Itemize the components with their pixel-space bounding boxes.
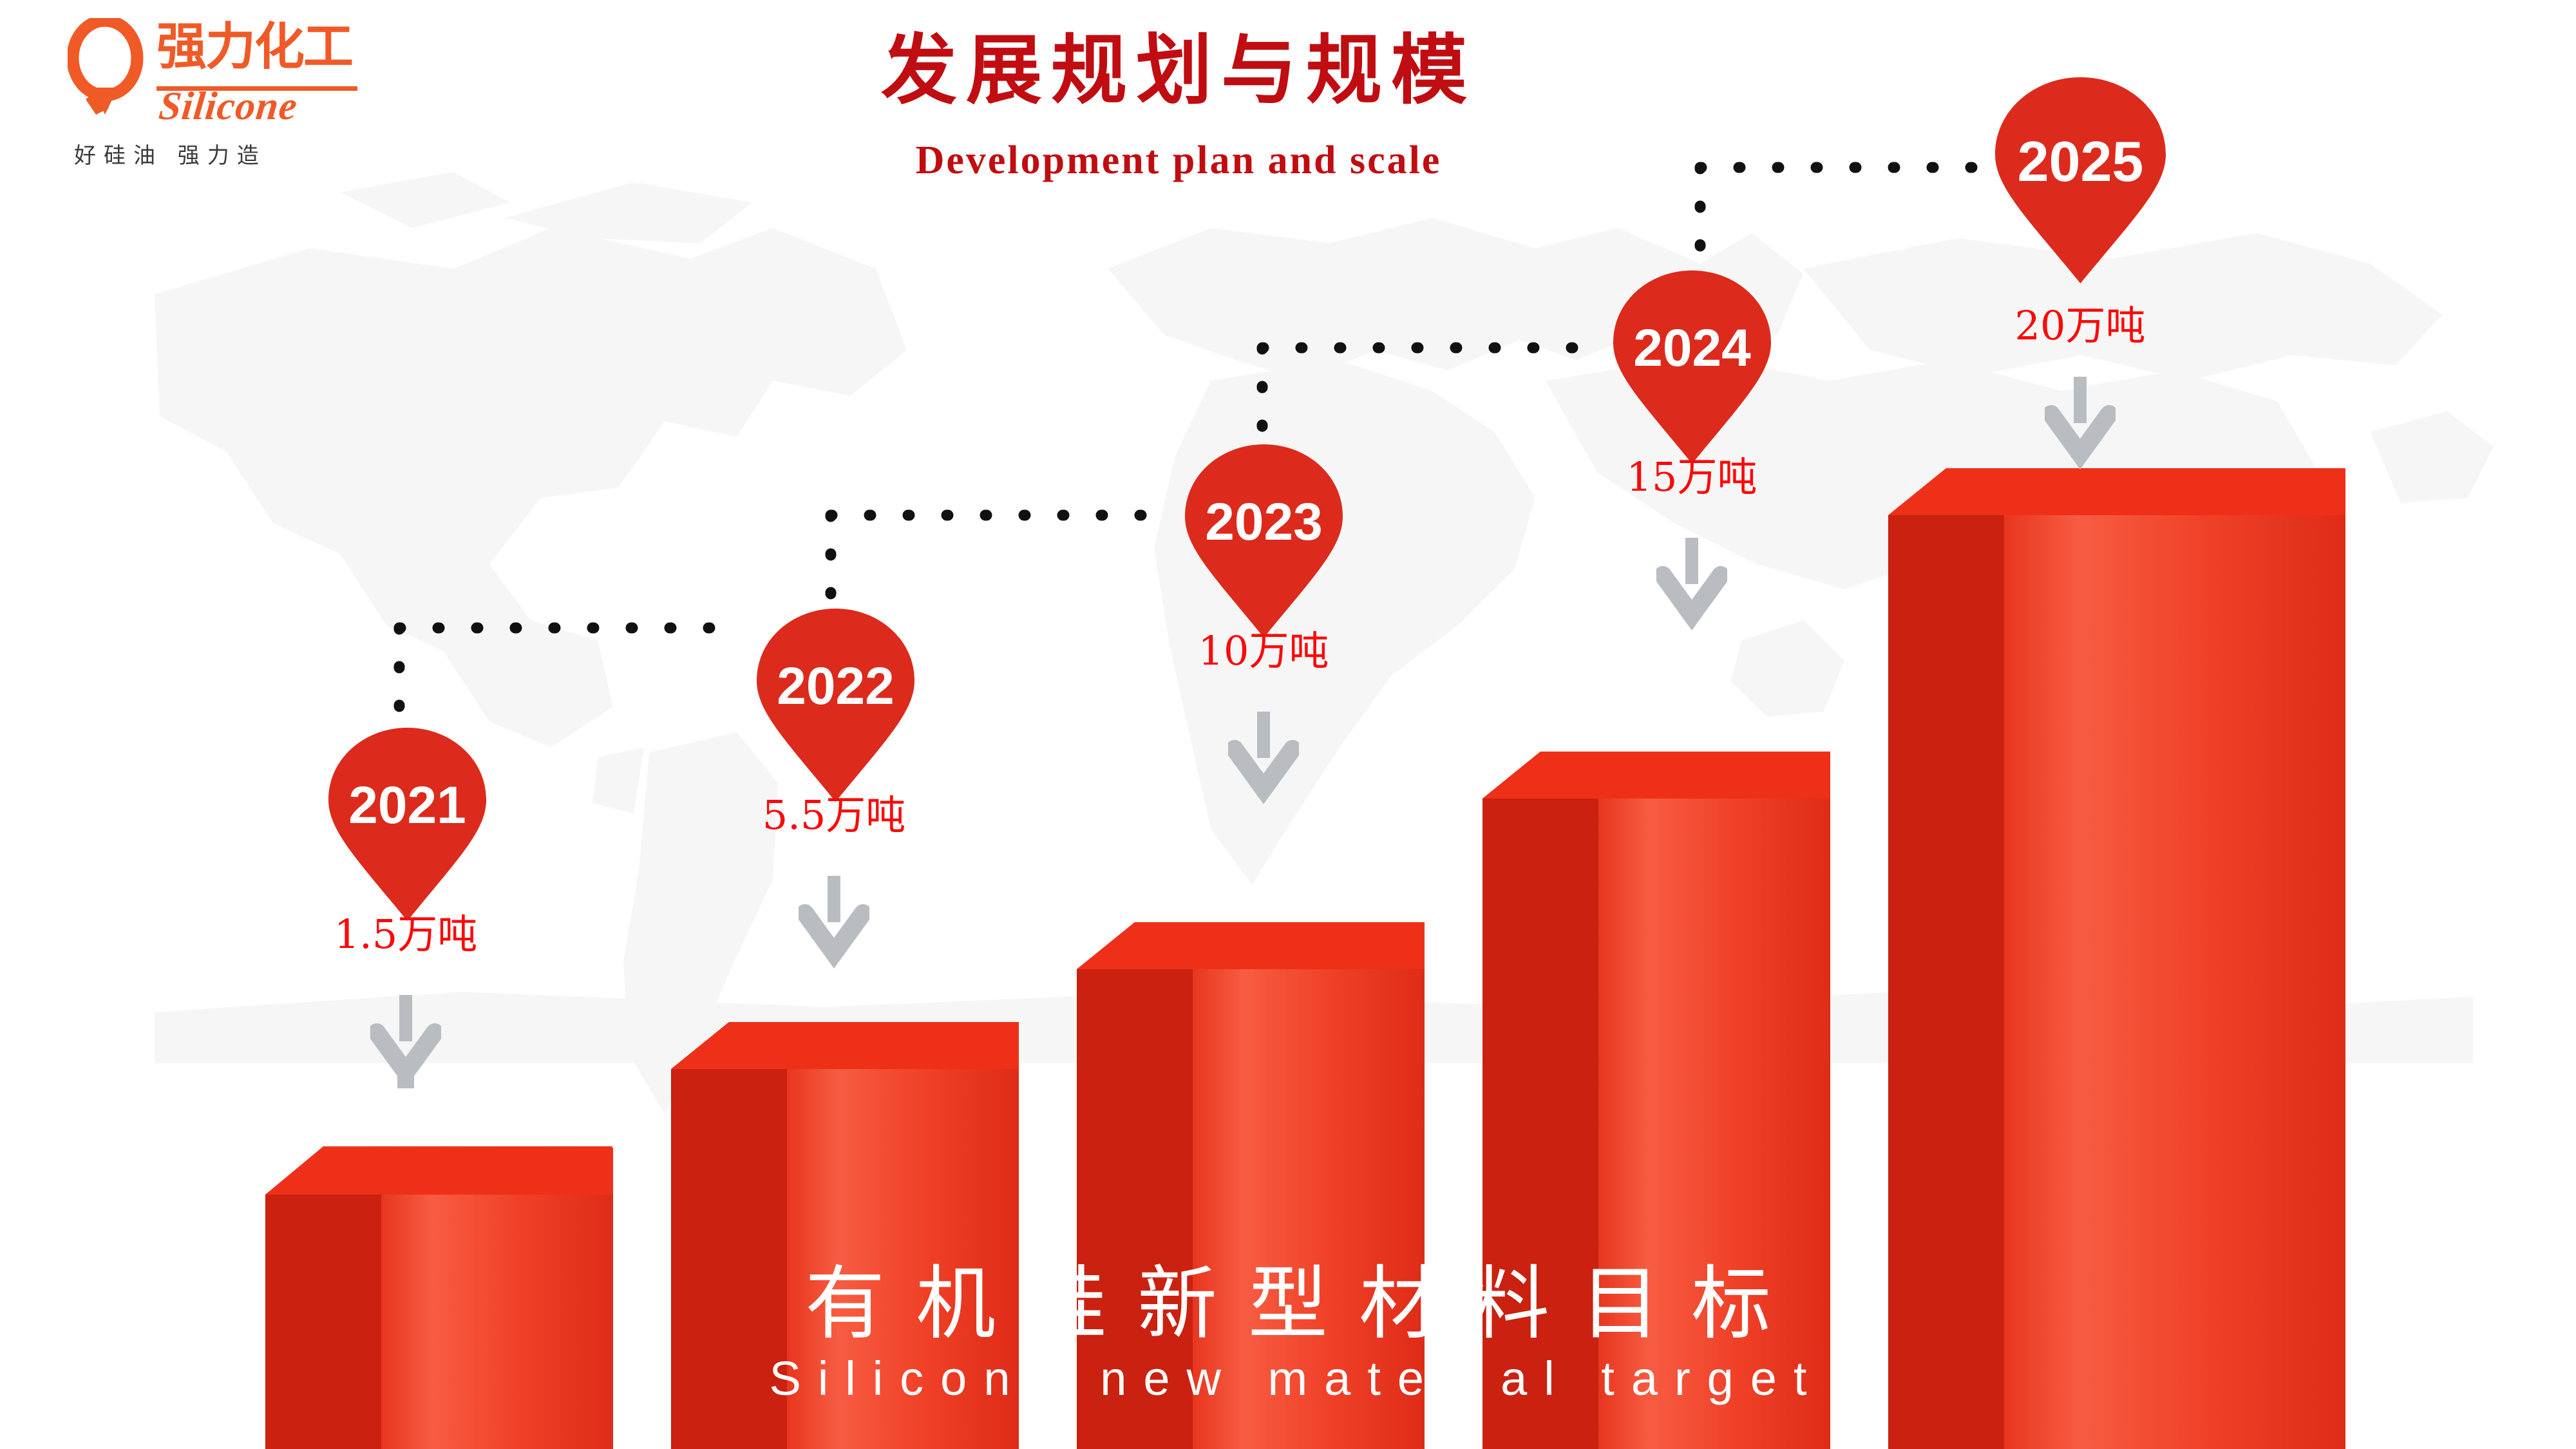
tons-label-2025: 20万吨 bbox=[1984, 293, 2177, 351]
pin-year-label: 2024 bbox=[1613, 318, 1771, 379]
milestone-pin-2023[interactable]: 2023 bbox=[1185, 444, 1343, 638]
down-arrow-icon-2024 bbox=[1656, 538, 1727, 631]
milestone-pin-2025[interactable]: 2025 bbox=[1995, 77, 2166, 283]
tons-label-2024: 15万吨 bbox=[1595, 444, 1788, 502]
milestone-pin-2024[interactable]: 2024 bbox=[1613, 270, 1771, 464]
milestone-pin-2022[interactable]: 2022 bbox=[757, 609, 914, 802]
tons-label-2021: 1.5万吨 bbox=[309, 902, 502, 960]
pin-year-label: 2021 bbox=[328, 775, 486, 836]
pin-year-label: 2025 bbox=[1995, 129, 2166, 194]
down-arrow-icon-2025 bbox=[2045, 377, 2116, 470]
down-arrow-icon-2022 bbox=[799, 876, 869, 969]
down-arrow-icon-2021 bbox=[370, 995, 441, 1088]
tons-label-2022: 5.5万吨 bbox=[737, 782, 931, 840]
pin-year-label: 2022 bbox=[757, 656, 914, 717]
milestone-pin-2021[interactable]: 2021 bbox=[328, 728, 486, 921]
down-arrow-icon-2023 bbox=[1228, 712, 1299, 805]
pin-year-label: 2023 bbox=[1185, 492, 1343, 553]
tons-label-2023: 10万吨 bbox=[1167, 618, 1360, 676]
infographic-canvas: 强力化工 Silicone 好硅油 强力造 发展规划与规模 Developmen… bbox=[0, 0, 2576, 1449]
